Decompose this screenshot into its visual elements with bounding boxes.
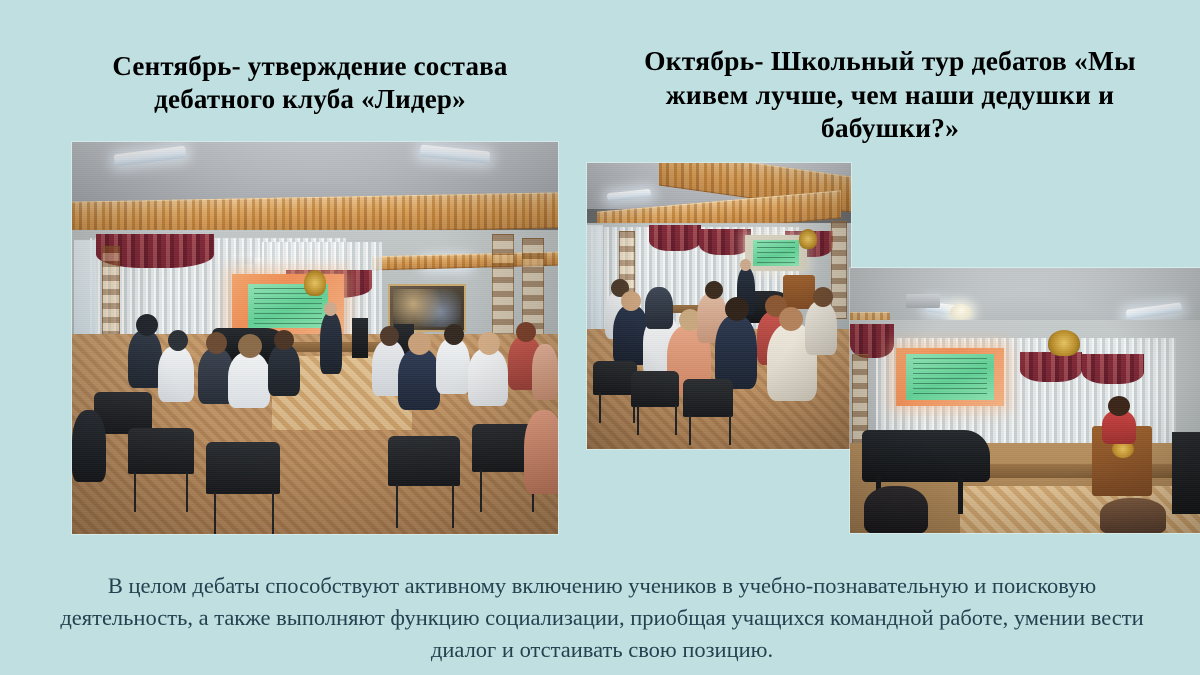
- audience-person-foreground: [1100, 498, 1166, 533]
- chair: [206, 442, 280, 494]
- projection-slide: [906, 354, 994, 400]
- audience-person: [436, 338, 470, 394]
- photo-october-podium-speaker: [850, 268, 1200, 533]
- audience-head: [705, 281, 723, 299]
- audience-head: [444, 324, 464, 345]
- chair-leg: [675, 405, 677, 435]
- photo-3-scene: [850, 268, 1200, 533]
- chair-leg: [480, 470, 482, 512]
- wall-emblem: [1048, 330, 1080, 356]
- projector: [906, 294, 940, 308]
- audience-head: [168, 330, 188, 351]
- audience-person: [645, 287, 673, 329]
- photo-october-debate-audience: [587, 163, 851, 449]
- audience-head: [274, 330, 294, 350]
- podium-speaker-head: [1108, 396, 1130, 416]
- audience-person: [468, 348, 508, 406]
- slide-text-lines: [757, 242, 796, 264]
- chair: [388, 436, 460, 486]
- audience-person-foreground: [72, 410, 106, 482]
- photo-september-debate-club: [72, 142, 558, 534]
- curtain-valance-b: [699, 229, 751, 255]
- audience-head: [725, 297, 749, 321]
- grand-piano: [862, 430, 990, 482]
- chair: [631, 371, 679, 407]
- chair-leg: [637, 405, 639, 435]
- audience-head: [621, 291, 641, 311]
- slide-text-lines: [913, 358, 987, 397]
- presentation-slide: Сентябрь- утверждение состава дебатного …: [0, 0, 1200, 675]
- painting-art: [393, 289, 461, 327]
- chair-leg: [272, 492, 274, 534]
- audience-person: [805, 301, 837, 355]
- chair-leg: [452, 484, 454, 528]
- curtain-valance-left: [850, 324, 894, 358]
- summary-paragraph: В целом дебаты способствуют активному вк…: [46, 570, 1158, 666]
- chair: [128, 428, 194, 474]
- wall-emblem: [304, 270, 326, 296]
- audience-person: [532, 344, 558, 400]
- audience-person: [228, 352, 270, 408]
- photo-2-scene: [587, 163, 851, 449]
- curtain-valance-b: [1082, 354, 1144, 384]
- audience-head: [380, 326, 399, 346]
- ceiling-lamp: [950, 304, 972, 320]
- chair-leg: [186, 472, 188, 512]
- piano-leg: [958, 478, 963, 514]
- slide-title-right: Октябрь- Школьный тур дебатов «Мы живем …: [608, 44, 1172, 145]
- audience-person: [715, 315, 757, 389]
- window-left: [587, 225, 603, 329]
- audience-head: [206, 332, 227, 354]
- chair-leg: [214, 492, 216, 534]
- chair-leg: [689, 415, 691, 445]
- audience-head: [136, 314, 158, 336]
- audience-head: [813, 287, 833, 307]
- audience-head: [478, 332, 500, 355]
- chair-leg: [729, 415, 731, 445]
- presenter-head: [740, 259, 751, 271]
- projection-screen: [896, 348, 1004, 406]
- audience-head: [238, 334, 262, 358]
- speaker-left: [352, 318, 368, 358]
- speaker-right: [1172, 432, 1200, 514]
- ceiling: [850, 268, 1200, 326]
- audience-person-foreground: [524, 410, 558, 494]
- audience-head: [779, 307, 803, 331]
- photo-1-scene: [72, 142, 558, 534]
- chair-leg: [134, 472, 136, 512]
- chair-leg: [396, 484, 398, 528]
- presenter: [320, 312, 342, 374]
- audience-head: [408, 332, 431, 355]
- podium: [783, 275, 815, 309]
- audience-head: [516, 322, 536, 342]
- wall-emblem: [799, 229, 817, 249]
- audience-person: [398, 348, 440, 410]
- audience-person: [268, 344, 300, 396]
- audience-person-foreground: [864, 486, 928, 533]
- curtain-valance-a: [649, 225, 701, 251]
- slide-title-left: Сентябрь- утверждение состава дебатного …: [54, 50, 566, 116]
- curtain-valance-a: [1020, 352, 1082, 382]
- projection-screen: [745, 235, 807, 271]
- decor-panel-right: [831, 221, 847, 319]
- chair: [683, 379, 733, 417]
- audience-person: [158, 346, 194, 402]
- chair-leg: [599, 393, 601, 423]
- presenter-head: [324, 302, 337, 316]
- audience-person: [128, 330, 162, 388]
- projection-slide: [753, 240, 799, 266]
